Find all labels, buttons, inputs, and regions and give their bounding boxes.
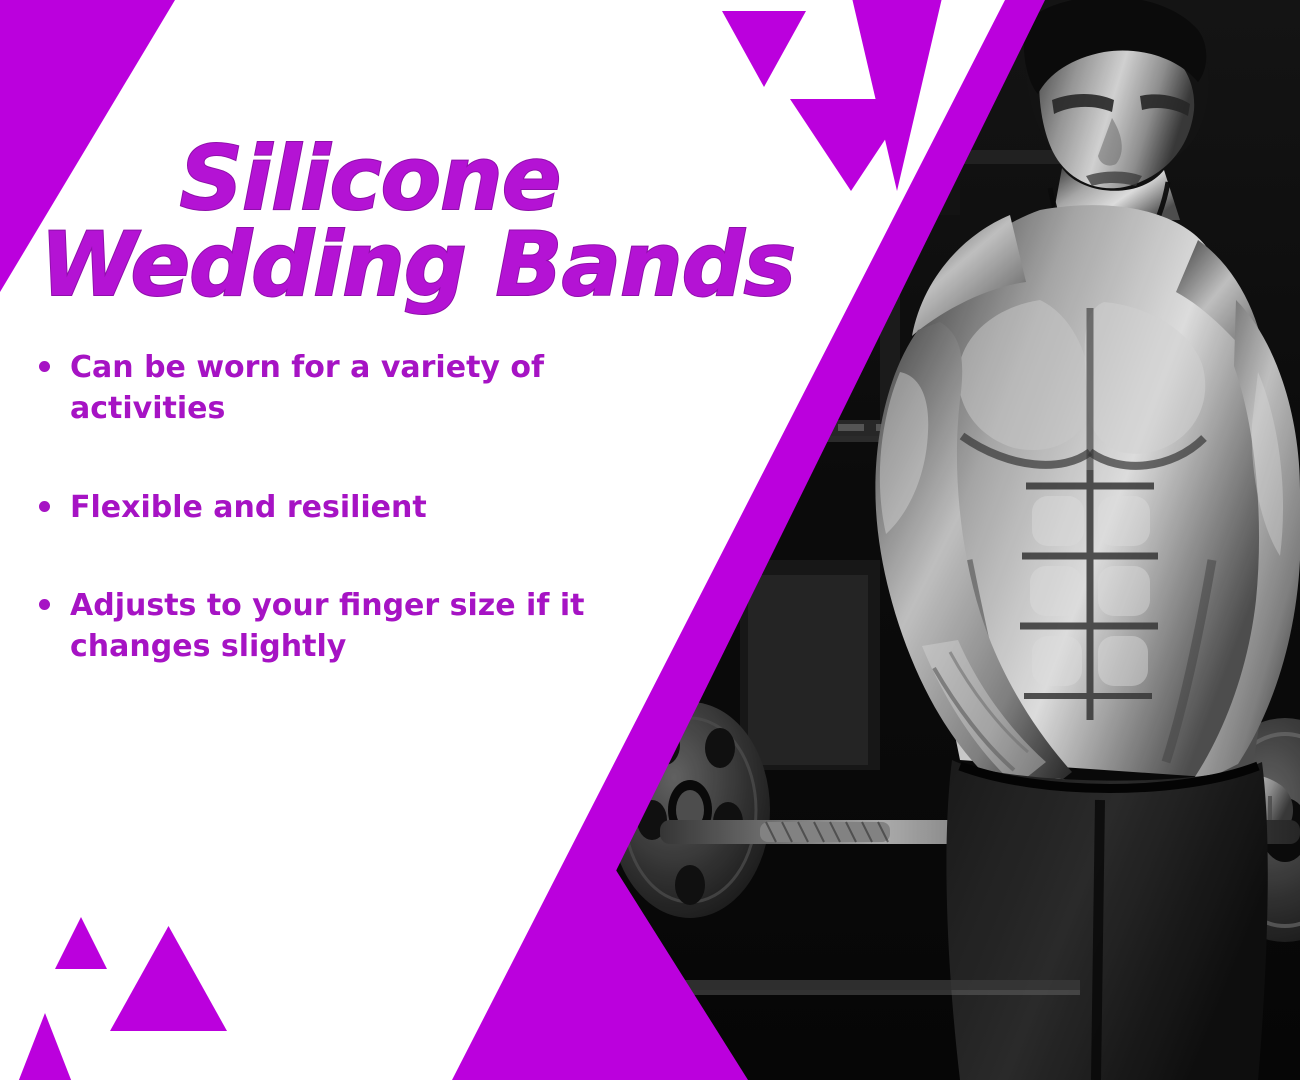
- bullet-dot-icon: [39, 501, 50, 512]
- list-item: Flexible and resilient: [30, 488, 670, 529]
- title-line-1: Silicone: [40, 136, 700, 222]
- list-item: Can be worn for a variety of activities: [30, 348, 670, 430]
- title-line-2: Wedding Bands: [40, 222, 700, 308]
- bullet-text: Flexible and resilient: [70, 490, 427, 525]
- page-title: Silicone Wedding Bands: [40, 136, 700, 308]
- text-content-area: Silicone Wedding Bands Can be worn for a…: [0, 0, 720, 1080]
- bullet-dot-icon: [39, 361, 50, 372]
- bullet-dot-icon: [39, 599, 50, 610]
- poster-canvas: Silicone Wedding Bands Can be worn for a…: [0, 0, 1300, 1080]
- triangle-down-small-icon: [722, 11, 806, 87]
- bullet-text: Can be worn for a variety of activities: [70, 350, 544, 426]
- list-item: Adjusts to your finger size if it change…: [30, 586, 670, 668]
- feature-bullet-list: Can be worn for a variety of activities …: [30, 348, 670, 726]
- bullet-text: Adjusts to your finger size if it change…: [70, 588, 584, 664]
